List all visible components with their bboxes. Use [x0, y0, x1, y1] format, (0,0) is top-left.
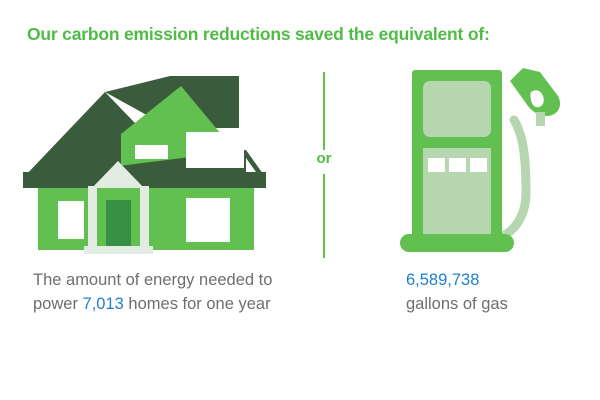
pump-button-3 — [470, 158, 487, 172]
left-stat-caption: The amount of energy needed to power 7,0… — [33, 268, 283, 316]
left-stat-value: 7,013 — [83, 295, 124, 313]
left-stat-line1: The amount of energy — [33, 271, 194, 289]
page-title: Our carbon emission reductions saved the… — [27, 24, 490, 45]
divider-rule-top — [323, 72, 325, 150]
pump-button-1 — [428, 158, 445, 172]
house-window-lower-left — [58, 201, 84, 239]
pump-display-panel — [423, 81, 491, 137]
divider-or-label: or — [304, 148, 344, 170]
illustration-band: or — [0, 62, 600, 258]
house-lower-eave — [23, 172, 266, 188]
pump-button-2 — [449, 158, 466, 172]
right-stat-value: 6,589,738 — [406, 268, 596, 292]
pump-nozzle-spout — [536, 112, 545, 126]
house-window-upper-left — [135, 145, 168, 159]
right-stat-label: gallons of gas — [406, 295, 508, 313]
house-window-lower-right — [186, 198, 230, 242]
gas-pump-icon — [398, 62, 583, 258]
house-porch-column-left — [88, 186, 97, 250]
house-door — [106, 200, 131, 248]
house-porch-column-right — [140, 186, 149, 250]
divider-rule-bottom — [323, 174, 325, 258]
house-icon — [18, 62, 280, 258]
left-stat-line3: homes for one year — [128, 295, 270, 313]
divider: or — [304, 64, 344, 258]
house-porch-step — [84, 246, 153, 254]
house-window-upper-right — [186, 132, 244, 168]
right-stat-caption: 6,589,738 gallons of gas — [406, 268, 596, 316]
pump-base — [400, 234, 514, 252]
